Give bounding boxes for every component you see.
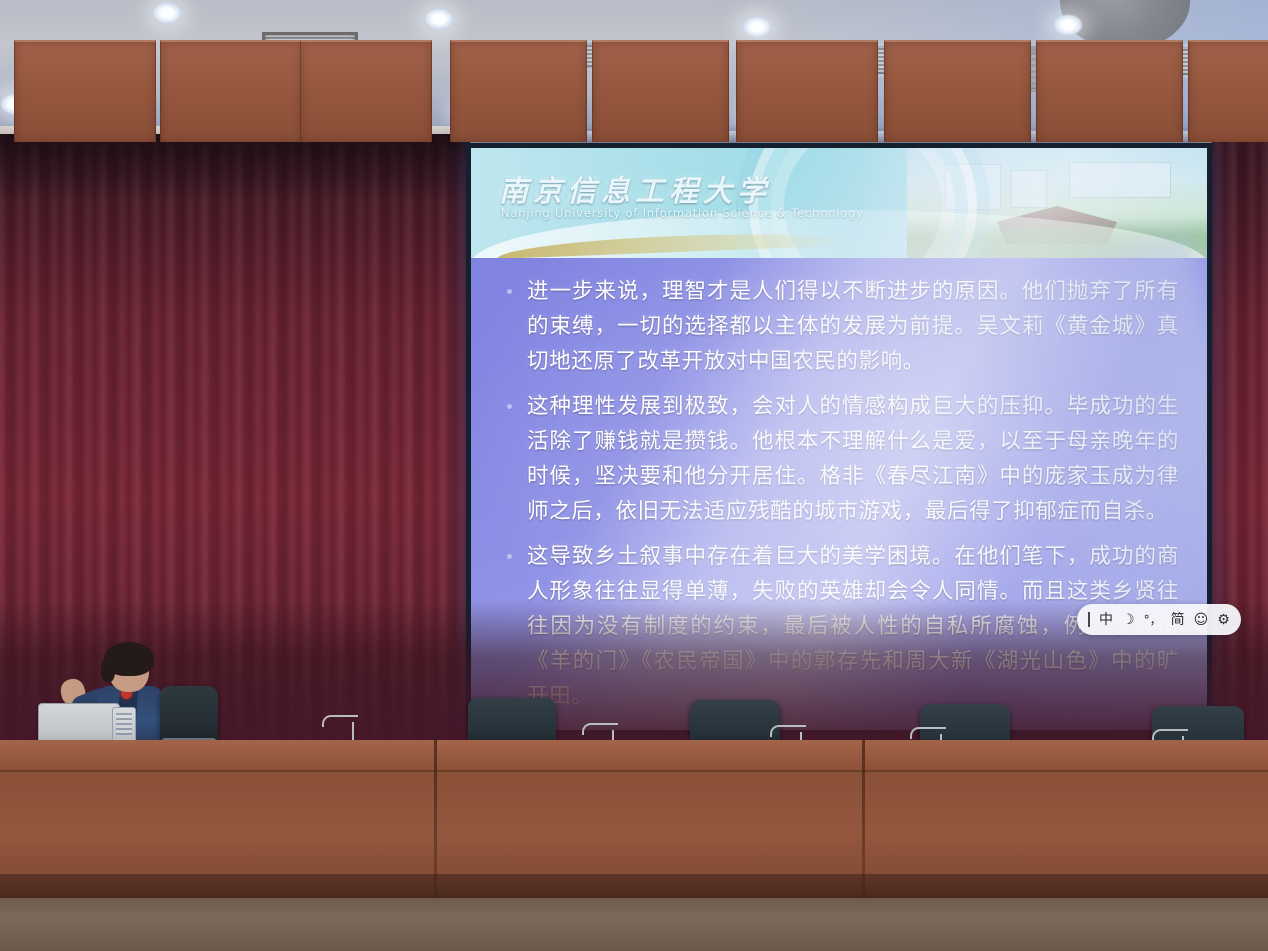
slide-paragraph-2: 这种理性发展到极致，会对人的情感构成巨大的压抑。毕成功的生活除了赚钱就是攒钱。他… <box>501 389 1179 529</box>
ime-mode-button[interactable]: 中 <box>1099 613 1113 627</box>
podium-panel <box>300 40 432 142</box>
podium-desk <box>0 740 1268 898</box>
ceiling-spotlight <box>152 2 182 24</box>
podium-seam <box>434 740 437 898</box>
university-name-cn: 南京信息工程大学 <box>499 168 771 210</box>
chair-speaker <box>160 686 218 742</box>
podium-panel <box>450 40 587 142</box>
podium-seam <box>862 740 865 898</box>
speaker-hair <box>104 642 154 676</box>
podium-panel <box>1188 40 1268 142</box>
chair-1 <box>468 698 556 744</box>
podium-panel <box>592 40 729 142</box>
slide-header-banner: 南京信息工程大学 Nanjing University of Informati… <box>471 148 1207 258</box>
university-name-en: Nanjing University of Information Scienc… <box>501 206 864 220</box>
podium-panel <box>160 40 302 142</box>
podium-base <box>0 874 1268 898</box>
podium-top-rail <box>0 740 1268 772</box>
curtain-shadow-band <box>0 134 470 204</box>
ceiling-spotlight <box>424 8 454 30</box>
podium-panel <box>1036 40 1183 142</box>
ime-cursor-icon <box>1088 612 1090 627</box>
moon-icon[interactable]: ☽ <box>1122 613 1135 627</box>
podium-panel <box>736 40 878 142</box>
emoji-icon[interactable]: ☺ <box>1194 613 1209 627</box>
ceiling-spotlight <box>1053 14 1083 36</box>
ime-toolbar[interactable]: 中 ☽ °， 简 ☺ ⚙ <box>1077 604 1241 635</box>
ime-script-button[interactable]: 简 <box>1171 613 1185 627</box>
ceiling-spotlight <box>742 16 772 38</box>
podium-panel <box>884 40 1031 142</box>
gear-icon[interactable]: ⚙ <box>1217 613 1230 627</box>
podium-panel <box>14 40 156 142</box>
ime-punctuation-button[interactable]: °， <box>1144 614 1162 626</box>
slide-paragraph-1: 进一步来说，理智才是人们得以不断进步的原因。他们抛弃了所有的束缚，一切的选择都以… <box>501 274 1179 379</box>
laptop <box>38 703 120 745</box>
stage-floor <box>0 898 1268 951</box>
lecture-hall-photo: 南京信息工程大学 Nanjing University of Informati… <box>0 0 1268 951</box>
